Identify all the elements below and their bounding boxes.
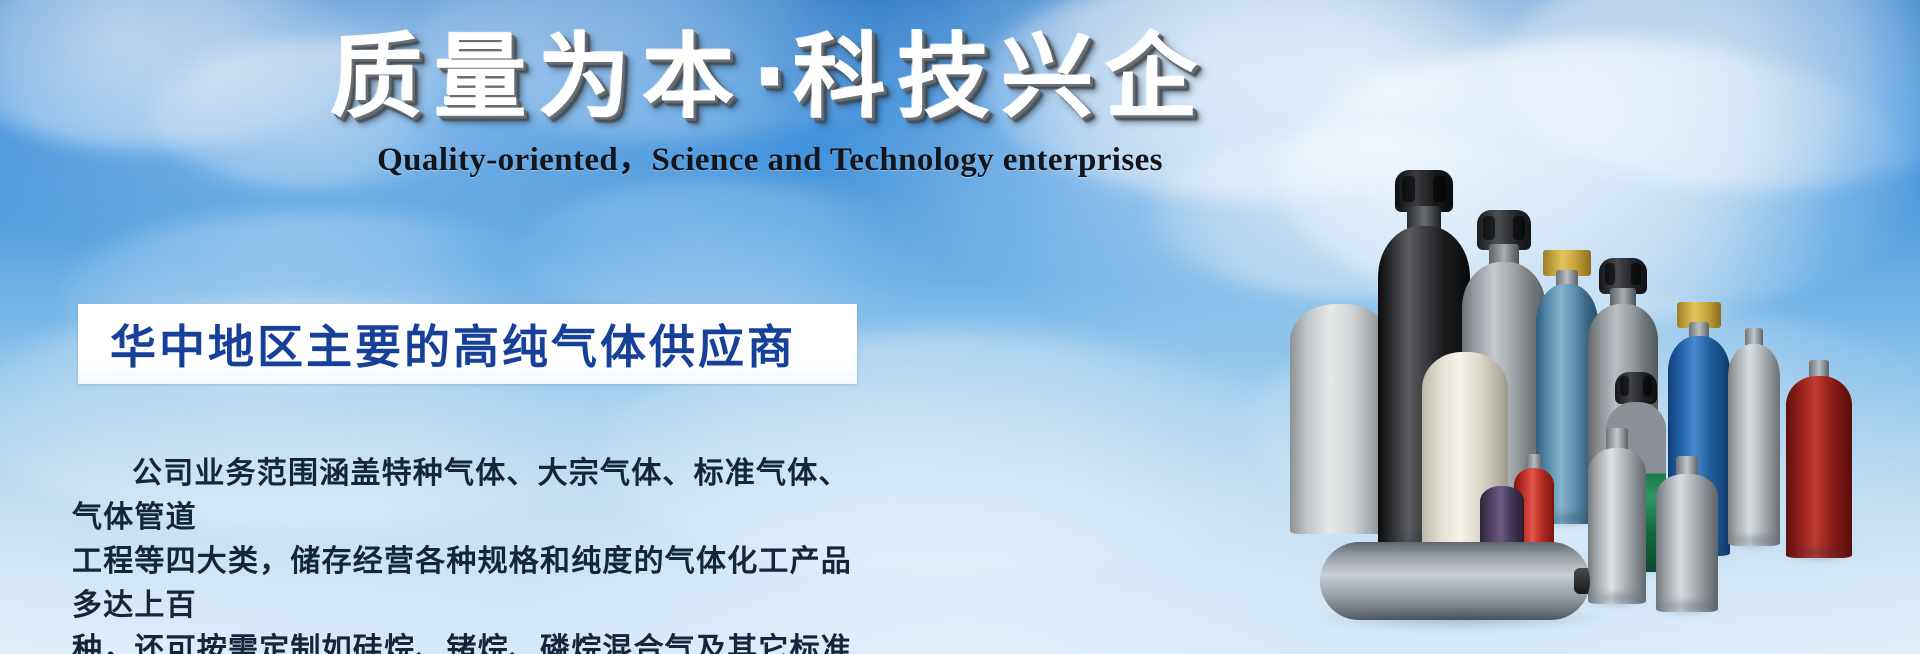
main-title-part-2: 科技兴企 — [793, 24, 1209, 131]
banner-description: 公司业务范围涵盖特种气体、大宗气体、标准气体、气体管道 工程等四大类，储存经营各… — [72, 452, 872, 654]
main-title-separator: · — [747, 24, 794, 131]
description-line-1: 公司业务范围涵盖特种气体、大宗气体、标准气体、气体管道 — [72, 452, 872, 540]
tank-valve-knob — [1574, 568, 1590, 594]
aluminium-bottle — [1656, 460, 1718, 612]
promo-banner: 质量为本·科技兴企 Quality-oriented，Science and T… — [0, 0, 1920, 654]
highlight-heading: 华中地区主要的高纯气体供应商 — [110, 308, 850, 380]
gas-cylinder-photo — [1300, 0, 1920, 654]
description-line-2: 工程等四大类，储存经营各种规格和纯度的气体化工产品多达上百 — [72, 540, 872, 628]
aluminium-bottle — [1588, 432, 1646, 604]
banner-text-column: 质量为本·科技兴企 Quality-oriented，Science and T… — [0, 0, 1000, 654]
silver-cylinder — [1728, 330, 1780, 546]
main-title-part-1: 质量为本 — [331, 24, 747, 131]
white-large-cylinder — [1290, 304, 1390, 534]
tank-shadow — [1310, 610, 1610, 630]
maroon-cylinder — [1786, 362, 1852, 558]
description-line-3: 种，还可按需定制如硅烷、锗烷、磷烷混合气及其它标准气体。 — [72, 628, 872, 654]
horizontal-tank — [1320, 542, 1590, 620]
